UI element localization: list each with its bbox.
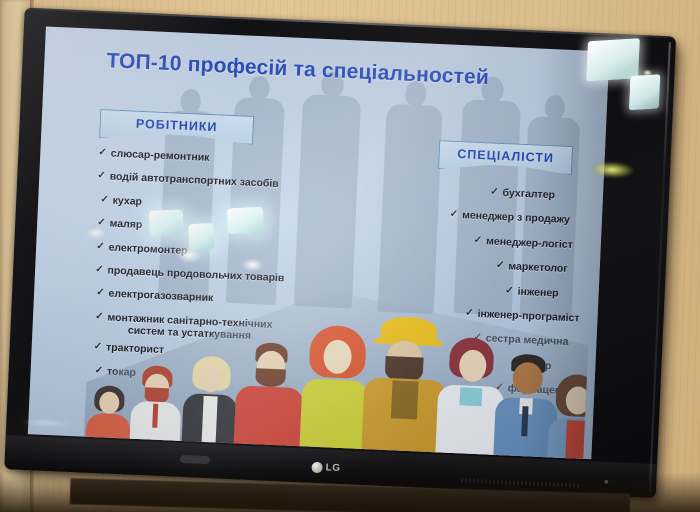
room-background: ТОП-10 професій та спеціальностей РОБІТН… <box>0 0 700 512</box>
bezel-glare <box>629 74 660 110</box>
bottom-shadow <box>0 472 700 512</box>
bezel-sheen <box>4 8 676 499</box>
ir-receiver-window <box>180 455 210 464</box>
tv-bezel: ТОП-10 професій та спеціальностей РОБІТН… <box>4 8 676 499</box>
bezel-glare <box>586 38 640 81</box>
lg-television[interactable]: ТОП-10 професій та спеціальностей РОБІТН… <box>4 8 684 507</box>
